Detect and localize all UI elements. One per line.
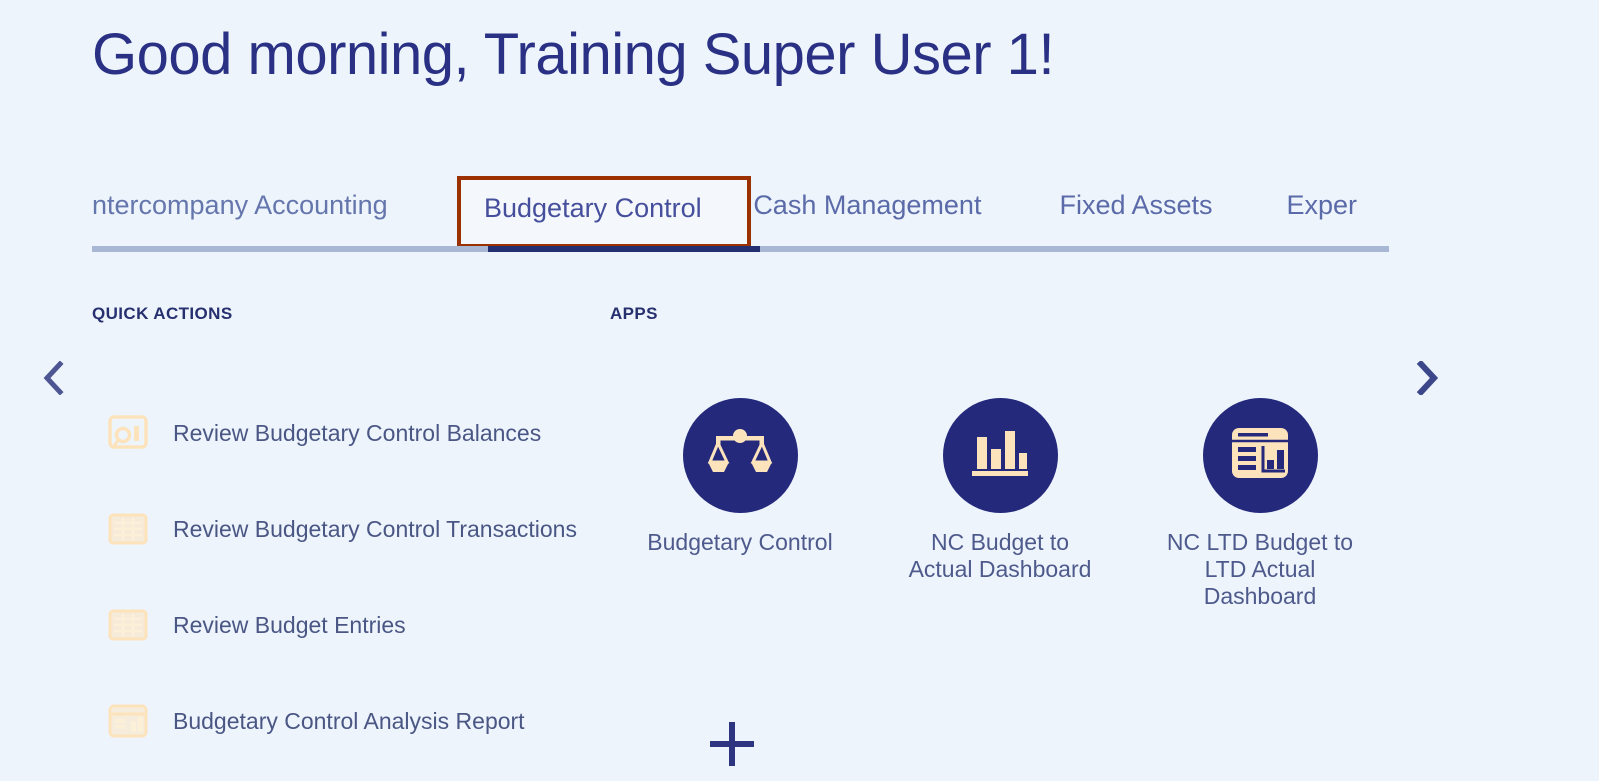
search-chart-icon [105,411,151,455]
quick-action-label: Review Budgetary Control Balances [173,422,541,445]
app-icon-wrapper [1203,398,1318,513]
tab-scroll-track[interactable] [92,246,1389,252]
tab-intercompany-accounting[interactable]: ntercompany Accounting [92,192,388,219]
quick-action-review-budgetary-control-transactions[interactable]: Review Budgetary Control Transactions [92,481,612,577]
quick-action-label: Review Budget Entries [173,614,406,637]
tab-fixed-assets[interactable]: Fixed Assets [1059,192,1212,219]
app-nc-ltd-budget-to-ltd-actual-dashboard[interactable]: NC LTD Budget to LTD Actual Dashboard [1130,398,1390,610]
quick-action-budgetary-control-analysis-report[interactable]: Budgetary Control Analysis Report [92,673,612,769]
app-nc-budget-to-actual-dashboard[interactable]: NC Budget to Actual Dashboard [870,398,1130,583]
quick-action-review-budget-entries[interactable]: Review Budget Entries [92,577,612,673]
app-icon-wrapper [943,398,1058,513]
quick-actions-list: Review Budgetary Control Balances Review… [92,385,612,769]
home-page: Good morning, Training Super User 1! nte… [0,0,1599,781]
tab-budgetary-control-label[interactable]: Budgetary Control [484,195,702,222]
quick-action-review-budgetary-control-balances[interactable]: Review Budgetary Control Balances [92,385,612,481]
app-label: Budgetary Control [647,529,832,556]
quick-actions-heading: QUICK ACTIONS [92,304,233,324]
app-budgetary-control[interactable]: Budgetary Control [610,398,870,556]
app-label: NC Budget to Actual Dashboard [900,529,1100,583]
apps-heading: APPS [610,304,658,324]
tab-expenses[interactable]: Exper [1287,192,1358,219]
table-list-icon [105,507,151,551]
tab-scroll-thumb[interactable] [488,246,760,252]
chevron-left-icon[interactable] [30,353,76,403]
tab-list: ntercompany Accounting Budgetary Control… [92,165,1392,245]
dashboard-report-icon [1229,424,1291,487]
report-chart-icon [105,699,151,743]
app-label: NC LTD Budget to LTD Actual Dashboard [1160,529,1360,610]
table-list-icon [105,603,151,647]
bar-chart-icon [969,425,1031,486]
quick-action-label: Budgetary Control Analysis Report [173,710,525,733]
plus-icon [704,716,760,777]
chevron-right-icon[interactable] [1404,353,1450,403]
apps-list: Budgetary Control NC Budget to Actual Da… [610,398,1390,610]
quick-action-label: Review Budgetary Control Transactions [173,518,577,541]
app-icon-wrapper [683,398,798,513]
scales-balance-icon [707,425,773,486]
tab-cash-management[interactable]: Cash Management [753,192,981,219]
page-title: Good morning, Training Super User 1! [92,22,1054,89]
add-app-button[interactable] [700,714,764,778]
